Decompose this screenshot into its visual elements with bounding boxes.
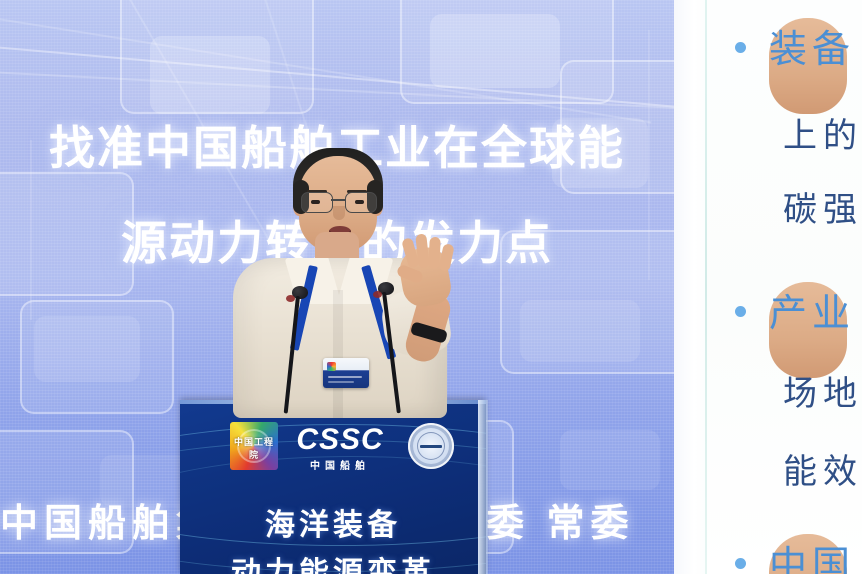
speaker-eye-left — [311, 200, 320, 204]
slide-bullet-2-line-3: 能效 — [783, 444, 862, 493]
microphone-windscreen-ring — [286, 295, 295, 302]
microphone-stem — [284, 296, 300, 414]
secondary-slide-panel: 装备 上的 碳强 产业 场地 能效 中国 — [707, 0, 862, 574]
speaker-eye-right — [355, 200, 364, 204]
cae-logo-caption: 中国工程院 — [230, 435, 278, 461]
cssc-logo-sub: 中国船舶 — [292, 457, 388, 472]
speaker-finger — [438, 243, 454, 272]
podium-text-line2: 动力能源变革 — [180, 548, 486, 574]
badge-text-line — [328, 381, 354, 383]
microphone-right — [372, 282, 412, 407]
speaker-person — [215, 140, 465, 410]
microphone-left — [282, 286, 322, 406]
led-footer-right: 委 常委 — [486, 492, 674, 547]
podium: 中国工程院 CSSC 中国船舶 海洋装备 动力能源变革 — [180, 400, 486, 574]
badge-text-line — [328, 376, 362, 378]
slide-bullet-2-line-2: 场地 — [783, 366, 862, 415]
conference-badge — [323, 358, 369, 388]
glasses-bridge — [331, 199, 345, 201]
bullet-dot-icon — [735, 558, 746, 569]
wall-gap — [674, 0, 708, 574]
slide-bullet-1-line-1: 装备 — [769, 18, 847, 114]
speaker-nose — [333, 206, 345, 220]
seal-emblem-bar — [420, 445, 442, 448]
slide-bullet-2-line-1: 产业 — [769, 282, 847, 378]
cssc-logo-mark: CSSC — [292, 424, 388, 456]
microphone-stem — [382, 292, 401, 414]
led-footer-left: 中国船舶集 — [0, 492, 190, 547]
microphone-windscreen-ring — [373, 291, 382, 298]
podium-text-line1: 海洋装备 — [180, 500, 486, 544]
slide-bullet-1-line-3: 碳强 — [783, 182, 862, 231]
slide-bullet-3-line-1: 中国 — [769, 534, 847, 574]
bullet-dot-icon — [735, 42, 746, 53]
conference-photo-scene: 找准中国船舶工业在全球能 源动力转型的发力点 李 中国船舶集 委 常委 中国工程… — [0, 0, 862, 574]
badge-logo-chip — [327, 362, 336, 371]
slide-bullet-1-line-2: 上的 — [783, 108, 862, 157]
cae-logo: 中国工程院 — [230, 422, 278, 470]
podium-logo-row: 中国工程院 CSSC 中国船舶 — [180, 422, 486, 474]
cssc-logo: CSSC 中国船舶 — [292, 424, 388, 472]
university-seal-logo — [408, 423, 454, 469]
bullet-dot-icon — [735, 306, 746, 317]
podium-side-edge — [478, 400, 488, 574]
shirt-placket — [333, 290, 343, 418]
